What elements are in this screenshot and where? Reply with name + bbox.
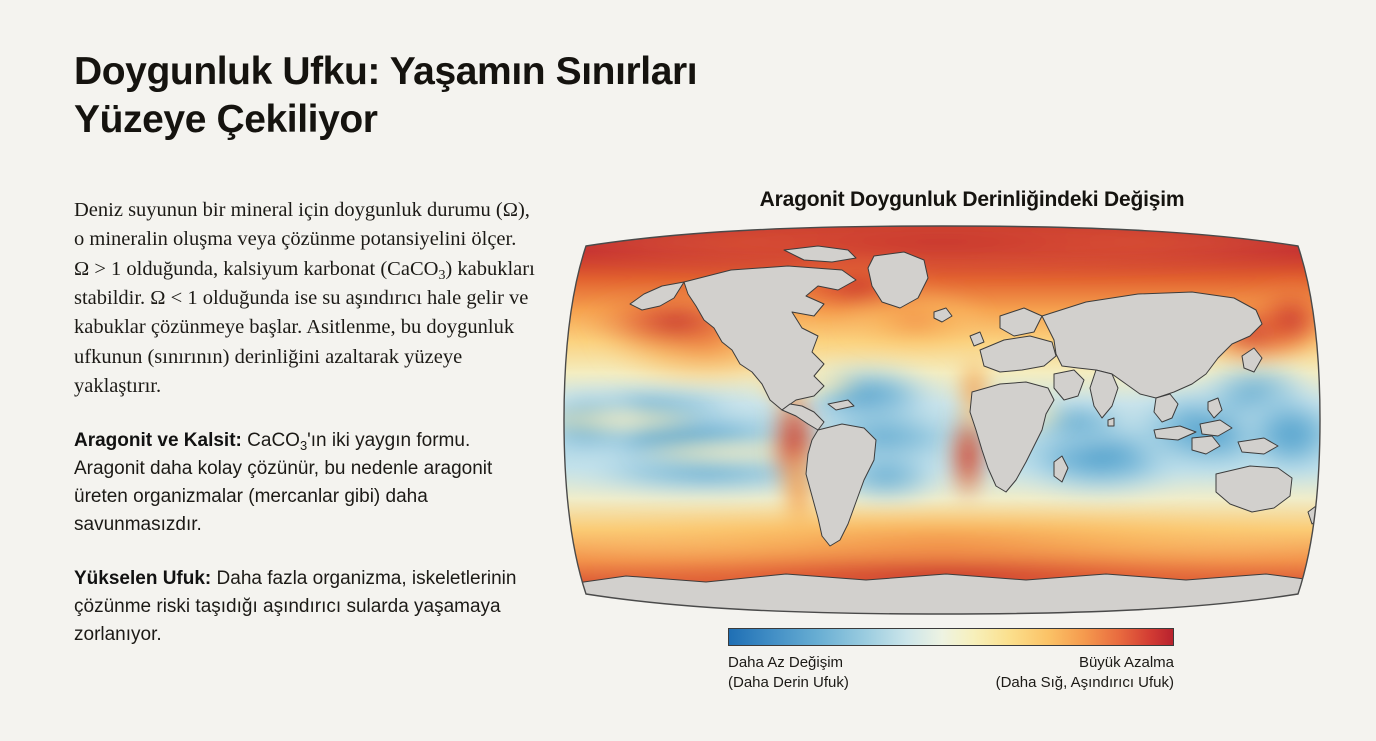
ocean-heatmap-layer [556,224,1328,616]
paragraph-2-part-1: CaCO [242,430,300,451]
land-sri-lanka [1108,418,1114,426]
land-antarctica [556,574,1328,616]
legend-label-row: Daha Az Değişim (Daha Derin Ufuk) Büyük … [728,653,1174,693]
page-title: Doygunluk Ufku: Yaşamın Sınırları Yüzeye… [74,48,934,143]
legend-colorbar [728,628,1174,646]
paragraph-2-subscript: 3 [300,438,307,453]
map-panel: Aragonit Doygunluk Derinliğindeki Değişi… [556,186,1336,706]
legend-label-min-title: Daha Az Değişim [728,653,849,673]
paragraph-saturation-state: Deniz suyunun bir mineral için doygunluk… [74,196,536,401]
legend-label-min-sub: (Daha Derin Ufuk) [728,673,849,693]
legend-label-max: Büyük Azalma (Daha Sığ, Aşındırıcı Ufuk) [996,653,1174,693]
body-text-column: Deniz suyunun bir mineral için doygunluk… [74,196,536,649]
legend-label-max-sub: (Daha Sığ, Aşındırıcı Ufuk) [996,673,1174,693]
paragraph-2-lead: Aragonit ve Kalsit: [74,430,242,451]
legend-label-max-title: Büyük Azalma [996,653,1174,673]
world-map-figure [556,224,1328,616]
map-legend: Daha Az Değişim (Daha Derin Ufuk) Büyük … [728,628,1174,693]
paragraph-1-subscript: 3 [438,268,445,283]
legend-label-min: Daha Az Değişim (Daha Derin Ufuk) [728,653,849,693]
page-title-line-2: Yüzeye Çekiliyor [74,96,934,144]
page-title-line-1: Doygunluk Ufku: Yaşamın Sınırları [74,48,934,96]
paragraph-3-lead: Yükselen Ufuk: [74,568,211,589]
map-title: Aragonit Doygunluk Derinliğindeki Değişi… [652,186,1292,212]
world-map-svg [556,224,1328,616]
paragraph-aragonite-calcite: Aragonit ve Kalsit: CaCO3'ın iki yaygın … [74,427,536,539]
paragraph-rising-horizon: Yükselen Ufuk: Daha fazla organizma, isk… [74,565,536,649]
